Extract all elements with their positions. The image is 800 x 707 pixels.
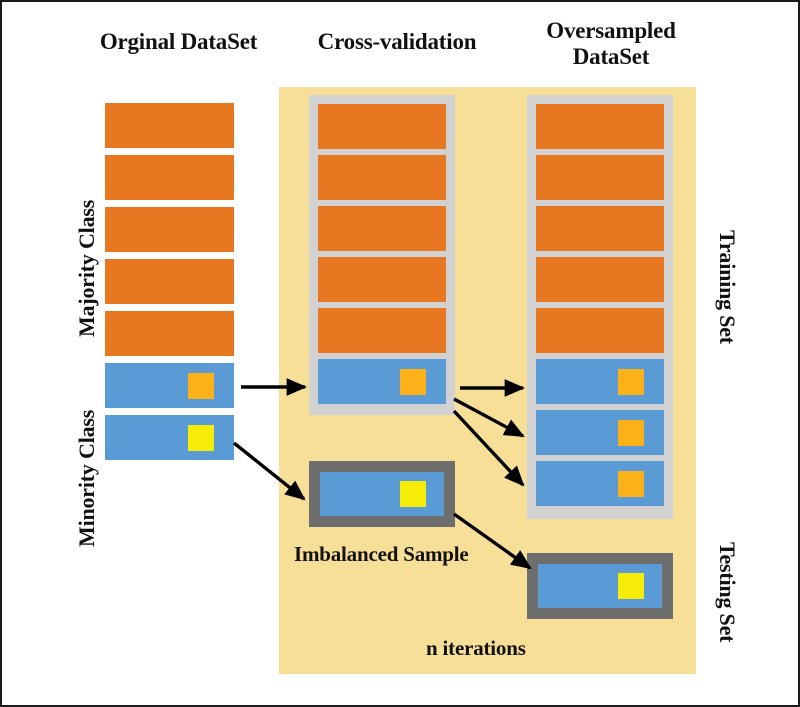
marker-yellow-square (400, 481, 426, 507)
heading-cross-validation: Cross-validation (297, 29, 497, 55)
oversampled-bar-majority-3 (536, 206, 664, 251)
bar-minority-2 (105, 415, 234, 460)
oversampled-training-frame (527, 95, 673, 519)
oversampled-bar-minority-3 (536, 461, 664, 506)
testing-set-frame (527, 553, 673, 619)
heading-original-dataset: Orginal DataSet (76, 29, 281, 55)
oversampled-bar-majority-4 (536, 257, 664, 302)
label-training-set: Training Set (714, 230, 740, 344)
oversampled-bar-majority-2 (536, 155, 664, 200)
crossval-bar-majority-3 (318, 206, 446, 251)
imbalanced-sample-frame (309, 461, 455, 527)
oversampled-bar-majority-1 (536, 104, 664, 149)
oversampled-bar-majority-5 (536, 308, 664, 353)
column-original-dataset (105, 103, 234, 463)
bar-majority-5 (105, 311, 234, 356)
marker-orange-square (618, 420, 644, 446)
crossval-bar-majority-4 (318, 257, 446, 302)
testing-set-bar-minority (538, 564, 662, 608)
heading-oversampled-dataset: Oversampled DataSet (515, 18, 707, 70)
caption-n-iterations: n iterations (426, 636, 526, 661)
crossval-bar-majority-1 (318, 104, 446, 149)
bar-majority-2 (105, 155, 234, 200)
heading-oversampled-dataset-line2: DataSet (515, 44, 707, 70)
marker-yellow-square (618, 573, 644, 599)
marker-orange-square (618, 471, 644, 497)
diagram-canvas: Orginal DataSet Cross-validation Oversam… (0, 0, 800, 707)
crossval-bar-majority-2 (318, 155, 446, 200)
imbalanced-sample-bar-minority (320, 472, 444, 516)
label-minority-class: Minority Class (74, 410, 100, 547)
bar-majority-4 (105, 259, 234, 304)
marker-orange-square (400, 369, 426, 395)
bar-majority-3 (105, 207, 234, 252)
crossval-bar-majority-5 (318, 308, 446, 353)
oversampled-bar-minority-2 (536, 410, 664, 455)
crossval-bar-minority-1 (318, 359, 446, 404)
marker-orange-square (618, 369, 644, 395)
heading-oversampled-dataset-line1: Oversampled (515, 18, 707, 44)
crossval-training-frame (309, 95, 455, 415)
marker-orange-square (188, 373, 214, 399)
oversampled-bar-minority-1 (536, 359, 664, 404)
caption-imbalanced-sample: Imbalanced Sample (294, 542, 469, 567)
label-testing-set: Testing Set (714, 542, 740, 642)
bar-minority-1 (105, 363, 234, 408)
marker-yellow-square (188, 425, 214, 451)
label-majority-class: Majority Class (74, 200, 100, 337)
bar-majority-1 (105, 103, 234, 148)
